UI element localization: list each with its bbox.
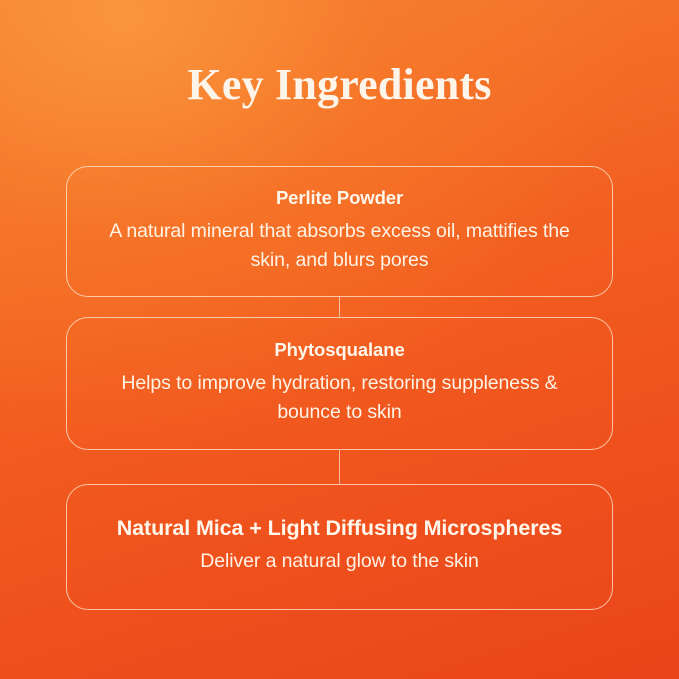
ingredient-card-natural-mica: Natural Mica + Light Diffusing Microsphe… [66,484,613,610]
ingredient-description: Deliver a natural glow to the skin [200,547,478,576]
ingredient-description: Helps to improve hydration, restoring su… [105,369,575,427]
title-container: Key Ingredients [0,60,679,110]
ingredient-name: Perlite Powder [276,185,403,211]
page-title: Key Ingredients [0,60,679,110]
ingredient-description: A natural mineral that absorbs excess oi… [105,217,575,275]
ingredient-card-stack: Perlite Powder A natural mineral that ab… [66,166,613,610]
card-connector-line-2 [339,450,340,484]
ingredient-card-phytosqualane: Phytosqualane Helps to improve hydration… [66,317,613,450]
card-connector-line-1 [339,297,340,317]
ingredient-name: Natural Mica + Light Diffusing Microsphe… [117,514,562,543]
key-ingredients-poster: Key Ingredients Perlite Powder A natural… [0,0,679,679]
ingredient-name: Phytosqualane [274,337,404,363]
ingredient-card-perlite-powder: Perlite Powder A natural mineral that ab… [66,166,613,297]
